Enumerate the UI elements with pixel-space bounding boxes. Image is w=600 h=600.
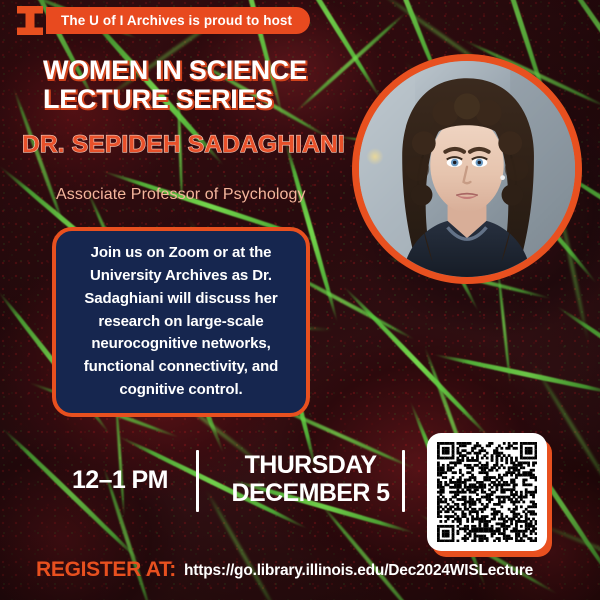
description-box: Join us on Zoom or at the University Arc… xyxy=(52,227,310,417)
register-url[interactable]: https://go.library.illinois.edu/Dec2024W… xyxy=(184,562,533,580)
host-banner: The U of I Archives is proud to host xyxy=(0,0,600,40)
description-text: Join us on Zoom or at the University Arc… xyxy=(70,242,292,402)
headline-line-2: LECTURE SERIES xyxy=(43,85,373,114)
headline-block: WOMEN IN SCIENCE LECTURE SERIES xyxy=(43,56,373,114)
event-day: THURSDAY xyxy=(228,451,393,479)
event-time: 12–1 PM xyxy=(72,466,168,495)
event-date-block: THURSDAY DECEMBER 5 xyxy=(228,451,393,508)
speaker-name: DR. SEPIDEH SADAGHIANI xyxy=(22,131,345,159)
qr-code-canvas xyxy=(437,442,537,542)
event-date: DECEMBER 5 xyxy=(228,479,393,507)
divider-left xyxy=(196,450,199,512)
register-label: REGISTER AT: xyxy=(36,558,176,582)
divider-right xyxy=(402,450,405,512)
headline-line-1: WOMEN IN SCIENCE xyxy=(43,56,373,85)
poster-root: The U of I Archives is proud to host WOM… xyxy=(0,0,600,600)
illinois-block-i-icon xyxy=(17,6,43,35)
speaker-title: Associate Professor of Psychology xyxy=(56,186,306,204)
host-banner-text: The U of I Archives is proud to host xyxy=(61,13,292,28)
qr-code[interactable] xyxy=(427,433,547,551)
host-banner-pill: The U of I Archives is proud to host xyxy=(46,7,310,34)
speaker-portrait xyxy=(352,54,582,284)
